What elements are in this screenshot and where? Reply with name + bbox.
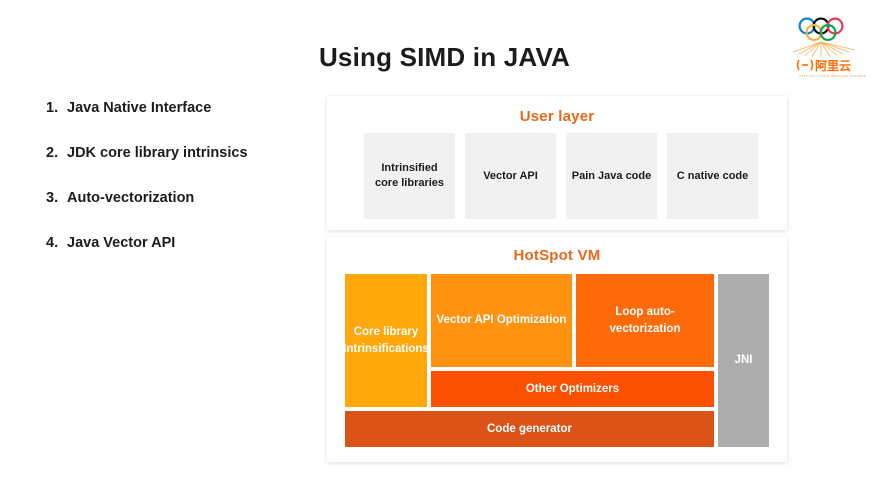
hotspot-vm-block-area: Core library Intrinsifications Vector AP… [345, 274, 769, 446]
user-layer-box-vector-api: Vector API [465, 133, 556, 219]
page-title: Using SIMD in JAVA [0, 42, 889, 73]
agenda-item-number: 4. [46, 235, 67, 251]
hotspot-vm-panel: HotSpot VM Core library Intrinsification… [327, 237, 787, 462]
user-layer-box-row: Intrinsified core libraries Vector API P… [364, 133, 758, 219]
vm-block-core-library-intrinsifications: Core library Intrinsifications [345, 274, 427, 407]
agenda-item-2: 2. JDK core library intrinsics [46, 145, 316, 161]
agenda-item-4: 4. Java Vector API [46, 235, 316, 251]
agenda-item-1: 1. Java Native Interface [46, 100, 316, 116]
agenda-item-label: Auto-vectorization [67, 190, 194, 206]
user-layer-box-c-native-code: C native code [667, 133, 758, 219]
user-layer-heading: User layer [327, 96, 787, 125]
user-layer-box-intrinsified-core-libraries: Intrinsified core libraries [364, 133, 455, 219]
user-layer-box-pain-java-code: Pain Java code [566, 133, 657, 219]
agenda-item-label: Java Native Interface [67, 100, 211, 116]
vm-block-loop-auto-vectorization: Loop auto-vectorization [576, 274, 714, 367]
agenda-item-3: 3. Auto-vectorization [46, 190, 316, 206]
user-layer-panel: User layer Intrinsified core libraries V… [327, 96, 787, 230]
hotspot-vm-heading: HotSpot VM [327, 237, 787, 264]
vm-block-code-generator: Code generator [345, 411, 714, 447]
vm-block-vector-api-optimization: Vector API Optimization [431, 274, 572, 367]
agenda-list: 1. Java Native Interface 2. JDK core lib… [46, 100, 316, 280]
vm-block-jni: JNI [718, 274, 769, 447]
agenda-item-label: JDK core library intrinsics [67, 145, 248, 161]
agenda-item-number: 2. [46, 145, 67, 161]
agenda-item-number: 3. [46, 190, 67, 206]
agenda-item-label: Java Vector API [67, 235, 175, 251]
logo-subtitle: OFFICIAL CLOUD SERVICES PARTNER [799, 74, 866, 78]
vm-block-other-optimizers: Other Optimizers [431, 371, 714, 407]
agenda-item-number: 1. [46, 100, 67, 116]
